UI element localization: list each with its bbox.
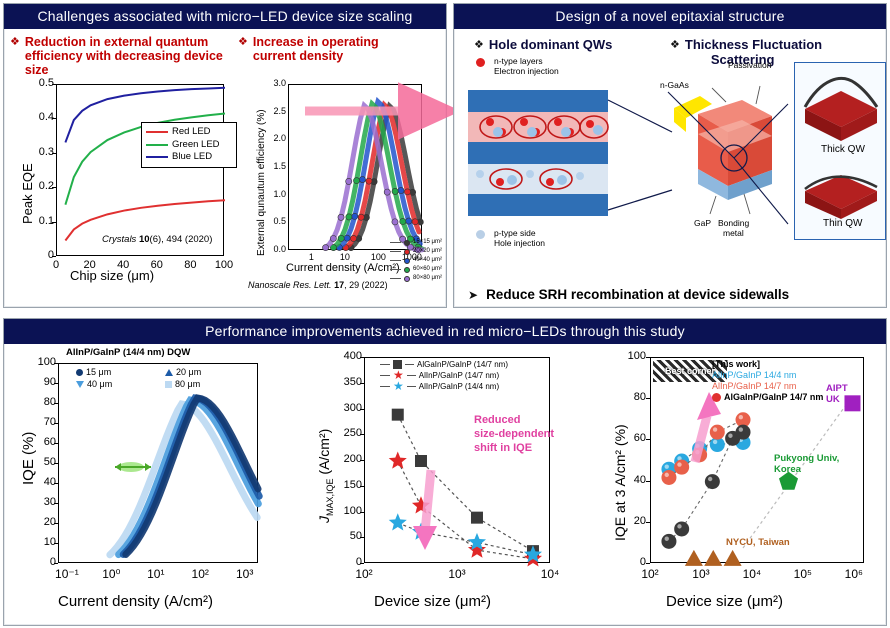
legend-dash: [407, 386, 416, 387]
thin-qw-label: Thin QW: [823, 219, 862, 229]
jmax-y-tick-mark: [360, 486, 364, 487]
peak-eqe-y-tick-mark: [52, 118, 56, 119]
legend-marker: ★: [393, 382, 404, 391]
legend-marker: [712, 393, 721, 402]
iqe3-y-tick-mark: [646, 398, 650, 399]
srh-footer-label: Reduce SRH recombination at device sidew…: [486, 287, 789, 302]
eqe-j-y-axis-title: External qunautum efficiency (%): [256, 109, 267, 256]
legend-label: AlInP/GaInP (14/4 nm): [419, 381, 499, 392]
legend-dash: [380, 386, 390, 387]
iqe-y-tick: 100: [30, 356, 56, 368]
jmax-legend-item: ★AlInP/GaInP (14/4 nm): [380, 381, 508, 392]
eqe-j-curves: [289, 85, 423, 251]
iqe3-x-tick: 10³: [685, 567, 717, 581]
panel-challenges: Challenges associated with micro−LED dev…: [3, 3, 447, 308]
peak-eqe-x-tick: 0: [46, 259, 66, 271]
jmax-y-tick-mark: [360, 383, 364, 384]
legend-label: 20 μm: [176, 367, 201, 378]
peak-eqe-x-axis-title: Chip size (μm): [70, 268, 154, 283]
iqe3-y-tick-mark: [646, 439, 650, 440]
iqe3-x-tick: 10⁴: [736, 567, 768, 581]
legend-label: AlGaInP/GaInP (14/7 nm): [417, 359, 508, 370]
diamond-bullet-icon: ❖: [474, 37, 484, 53]
jmax-y-tick: 300: [332, 402, 362, 414]
iqe-y-axis-title: IQE (%): [20, 432, 37, 485]
iqe-x-tick: 10¹: [140, 567, 172, 581]
legend-marker: [76, 369, 83, 376]
jmax-y-tick: 250: [332, 427, 362, 439]
iqe-y-tick: 90: [30, 376, 56, 388]
jmax-x-tick: 10²: [348, 567, 380, 581]
legend-dash: [405, 364, 414, 365]
iqe3-y-tick-mark: [646, 357, 650, 358]
chart-iqe-at-3: Best corner 020406080100 10²10³10⁴10⁵10⁶…: [596, 345, 888, 627]
peak-eqe-citation: Crystals 10(6), 494 (2020): [102, 234, 212, 245]
iqe3-legend-item: AlInP/GaInP 14/4 nm: [712, 370, 823, 381]
iqe-y-tick-mark: [54, 563, 58, 564]
iqe3-legend-item: AlGaInP/GaInP 14/7 nm: [712, 392, 823, 403]
legend-label: 20×20 μm²: [413, 247, 442, 256]
jmax-y-tick: 50: [332, 530, 362, 542]
jmax-y-tick-mark: [360, 357, 364, 358]
panel-challenges-header: Challenges associated with micro−LED dev…: [4, 4, 446, 29]
chart-jmax-vs-size: 050100150200250300350400 10²10³10⁴ JMAX,…: [296, 345, 596, 627]
iqe-y-tick-mark: [54, 443, 58, 444]
jmax-y-tick: 100: [332, 505, 362, 517]
legend-label: 40 μm: [87, 379, 112, 390]
legend-label: Green LED: [172, 139, 220, 152]
legend-label: AlInP/GaInP (14/7 nm): [419, 370, 499, 381]
legend-line-swatch: [146, 156, 168, 158]
iqe-x-axis-title: Current density (A/cm²): [58, 593, 213, 610]
iqe3-y-tick-mark: [646, 481, 650, 482]
iqe-legend-item: 40 μm: [76, 379, 157, 390]
panel-epitaxial-design: Design of a novel epitaxial structure ❖ …: [453, 3, 887, 308]
iqe-curves: [59, 364, 259, 564]
iqe3-x-tick: 10⁶: [838, 567, 870, 581]
jmax-annotation: Reduced size-dependent shift in IQE: [474, 413, 554, 455]
legend-label: AlInP/GaInP 14/4 nm: [712, 370, 796, 381]
legend-dash: [390, 251, 401, 252]
n-gaas-label: n-GaAs: [660, 80, 689, 90]
iqe-y-tick-mark: [54, 543, 58, 544]
eqe-j-x-tick: 10: [332, 252, 358, 262]
srh-footer-row: ➤ Reduce SRH recombination at device sid…: [468, 287, 789, 302]
band-structure-diagram: [460, 70, 680, 255]
ref-label-line1: NYCU, Taiwan: [726, 537, 790, 548]
panel-epitaxial-header: Design of a novel epitaxial structure: [454, 4, 886, 29]
diamond-bullet-icon: ❖: [670, 37, 680, 53]
ref-label-line1: Pukyong Univ,: [774, 453, 839, 464]
legend-label: AlInP/GaInP 14/7 nm: [712, 381, 796, 392]
iqe-y-tick: 10: [30, 536, 56, 548]
ref-label-line2: UK: [826, 394, 840, 405]
legend-line-swatch: [146, 144, 168, 146]
jmax-legend: AlGaInP/GaInP (14/7 nm)★AlInP/GaInP (14/…: [380, 359, 508, 392]
legend-dash: [390, 269, 401, 270]
peak-eqe-legend-item: Blue LED: [146, 151, 232, 164]
jmax-y-tick-mark: [360, 409, 364, 410]
legend-marker: [404, 249, 410, 255]
bullet-hole-dominant-qws-label: Hole dominant QWs: [489, 37, 613, 52]
bullet-current-density-label: Increase in operatingcurrent density: [253, 35, 379, 63]
iqe-y-tick-mark: [54, 483, 58, 484]
iqe3-y-tick: 100: [620, 350, 646, 362]
eqe-j-legend-item: 15×15 μm²: [390, 238, 442, 247]
jmax-x-tick: 10³: [441, 567, 473, 581]
iqe-plot-area: [58, 363, 258, 563]
iqe3-ref-label: NYCU, Taiwan: [726, 537, 790, 548]
legend-marker: [165, 381, 172, 388]
jmax-y-tick: 400: [332, 350, 362, 362]
panel-performance-header: Performance improvements achieved in red…: [4, 319, 886, 344]
thick-qw-label: Thick QW: [821, 145, 865, 155]
eqe-j-x-axis-title: Current density (A/cm²): [286, 262, 400, 274]
peak-eqe-x-tick: 100: [214, 259, 234, 271]
eqe-j-legend: 15×15 μm²20×20 μm²40×40 μm²60×60 μm²80×8…: [390, 238, 442, 283]
eqe-j-plot-area: [288, 84, 422, 250]
peak-eqe-y-axis-title: Peak EQE: [20, 163, 35, 224]
legend-label: 60×60 μm²: [413, 265, 442, 274]
jmax-y-tick: 150: [332, 479, 362, 491]
iqe-x-tick: 10⁰: [95, 567, 127, 581]
jmax-x-tick: 10⁴: [534, 567, 566, 581]
iqe-y-tick-mark: [54, 423, 58, 424]
iqe-y-tick: 20: [30, 516, 56, 528]
legend-label: 80×80 μm²: [413, 274, 442, 283]
iqe-chart-title: AlInP/GaInP (14/4 nm) DQW: [66, 347, 190, 358]
diamond-bullet-icon: ❖: [238, 35, 248, 49]
legend-marker: [76, 381, 84, 388]
legend-label: 80 μm: [175, 379, 200, 390]
eqe-j-citation: Nanoscale Res. Lett. 17, 29 (2022): [248, 280, 388, 290]
peak-eqe-curves: [57, 85, 225, 257]
peak-eqe-legend-item: Green LED: [146, 139, 232, 152]
legend-marker: [404, 267, 410, 273]
eqe-j-legend-item: 60×60 μm²: [390, 265, 442, 274]
eqe-j-x-tick: 100: [365, 252, 391, 262]
iqe3-x-tick: 10²: [634, 567, 666, 581]
poster-root: Challenges associated with micro−LED dev…: [0, 0, 890, 628]
legend-dash: [407, 375, 416, 376]
iqe-y-tick-mark: [54, 503, 58, 504]
legend-dash: [390, 278, 401, 279]
jmax-y-axis-title: JMAX,IQE (A/cm²): [316, 429, 335, 523]
peak-eqe-y-tick-mark: [52, 187, 56, 188]
legend-marker: [404, 240, 410, 246]
eqe-j-x-tick: 1: [298, 252, 324, 262]
chart-peak-eqe: 00.10.20.30.40.5 020406080100 Peak EQE C…: [8, 66, 240, 296]
eqe-j-legend-item: 40×40 μm²: [390, 256, 442, 265]
legend-dash: [380, 375, 390, 376]
peak-eqe-legend-item: Red LED: [146, 126, 232, 139]
peak-eqe-y-tick-mark: [52, 222, 56, 223]
electron-dot-icon: [476, 58, 485, 67]
iqe-x-tick: 10³: [229, 567, 261, 581]
eqe-j-y-tick: 3.0: [260, 78, 286, 88]
iqe-y-tick: 70: [30, 416, 56, 428]
jmax-y-tick-mark: [360, 512, 364, 513]
iqe-x-tick: 10²: [184, 567, 216, 581]
iqe3-y-axis-title: IQE at 3 A/cm² (%): [612, 424, 628, 541]
legend-marker: [404, 276, 410, 282]
legend-dash: [380, 364, 390, 365]
peak-eqe-y-tick-mark: [52, 153, 56, 154]
jmax-y-tick: 350: [332, 376, 362, 388]
iqe3-ref-label: Pukyong Univ,Korea: [774, 453, 839, 475]
legend-line-swatch: [146, 131, 168, 133]
jmax-x-axis-title: Device size (μm²): [374, 593, 491, 610]
iqe3-ref-label: AIPTUK: [826, 383, 848, 405]
diamond-bullet-icon: ❖: [10, 35, 20, 49]
iqe-y-tick-mark: [54, 403, 58, 404]
iqe3-legend-title: [This work]: [712, 359, 823, 370]
iqe3-legend: [This work]AlInP/GaInP 14/4 nmAlInP/GaIn…: [712, 359, 823, 403]
peak-eqe-y-tick: 0.5: [30, 77, 54, 89]
iqe-legend-item: 20 μm: [165, 367, 246, 378]
ref-label-line1: AIPT: [826, 383, 848, 394]
iqe-legend-item: 80 μm: [165, 379, 246, 390]
iqe-legend-item: 15 μm: [76, 367, 157, 378]
qw-inset-box: Thick QW Thin QW: [794, 62, 886, 240]
arrow-bullet-icon: ➤: [468, 288, 478, 302]
iqe3-x-tick: 10⁵: [787, 567, 819, 581]
iqe-y-tick: 80: [30, 396, 56, 408]
iqe-y-tick-mark: [54, 363, 58, 364]
peak-eqe-x-tick: 80: [180, 259, 200, 271]
n-type-layers-label: n-type layersElectron injection: [494, 56, 559, 76]
iqe-y-tick-mark: [54, 383, 58, 384]
iqe-y-tick-mark: [54, 523, 58, 524]
eqe-j-legend-item: 80×80 μm²: [390, 274, 442, 283]
peak-eqe-y-tick-mark: [52, 256, 56, 257]
legend-dash: [390, 260, 401, 261]
passivation-label: Passivation: [728, 60, 771, 70]
legend-dash: [390, 242, 401, 243]
iqe-legend: 15 μm20 μm40 μm80 μm: [76, 367, 246, 390]
iqe3-legend-item: AlInP/GaInP 14/7 nm: [712, 381, 823, 392]
jmax-y-tick: 200: [332, 453, 362, 465]
bonding-metal-label: Bondingmetal: [718, 218, 749, 238]
peak-eqe-legend: Red LEDGreen LEDBlue LED: [141, 122, 237, 168]
iqe-x-tick: 10⁻¹: [51, 567, 83, 581]
legend-marker: [404, 258, 410, 264]
iqe3-y-tick-mark: [646, 522, 650, 523]
peak-eqe-y-tick: 0.3: [30, 146, 54, 158]
jmax-y-tick-mark: [360, 460, 364, 461]
p-type-side-label: p-type sideHole injection: [494, 228, 545, 248]
iqe-y-tick-mark: [54, 463, 58, 464]
epitaxial-schematic: Thick QW Thin QW n-type layersElectron i…: [454, 56, 888, 256]
peak-eqe-plot-area: [56, 84, 224, 256]
legend-label: 15×15 μm²: [413, 238, 442, 247]
legend-label: 15 μm: [86, 367, 111, 378]
jmax-y-tick-mark: [360, 537, 364, 538]
iqe3-x-axis-title: Device size (μm²): [666, 593, 783, 610]
peak-eqe-y-tick: 0.4: [30, 111, 54, 123]
iqe3-y-tick: 80: [620, 391, 646, 403]
gap-label: GaP: [694, 218, 711, 228]
legend-label: Red LED: [172, 126, 211, 139]
jmax-y-tick-mark: [360, 434, 364, 435]
legend-label: 40×40 μm²: [413, 256, 442, 265]
legend-label: Blue LED: [172, 151, 212, 164]
jmax-y-tick-mark: [360, 563, 364, 564]
hole-dot-icon: [476, 230, 485, 239]
eqe-j-legend-item: 20×20 μm²: [390, 247, 442, 256]
ref-label-line2: Korea: [774, 464, 801, 475]
legend-marker: [165, 369, 173, 376]
iqe-y-tick: 30: [30, 496, 56, 508]
legend-label: AlGaInP/GaInP 14/7 nm: [724, 392, 823, 403]
panel-performance: Performance improvements achieved in red…: [3, 318, 887, 626]
chart-eqe-vs-current: 0.00.51.01.52.02.53.0 1101001000 Externa…: [244, 62, 444, 307]
peak-eqe-y-tick-mark: [52, 84, 56, 85]
iqe3-y-tick-mark: [646, 563, 650, 564]
chart-iqe-vs-current: AlInP/GaInP (14/4 nm) DQW 01020304050607…: [6, 345, 296, 627]
